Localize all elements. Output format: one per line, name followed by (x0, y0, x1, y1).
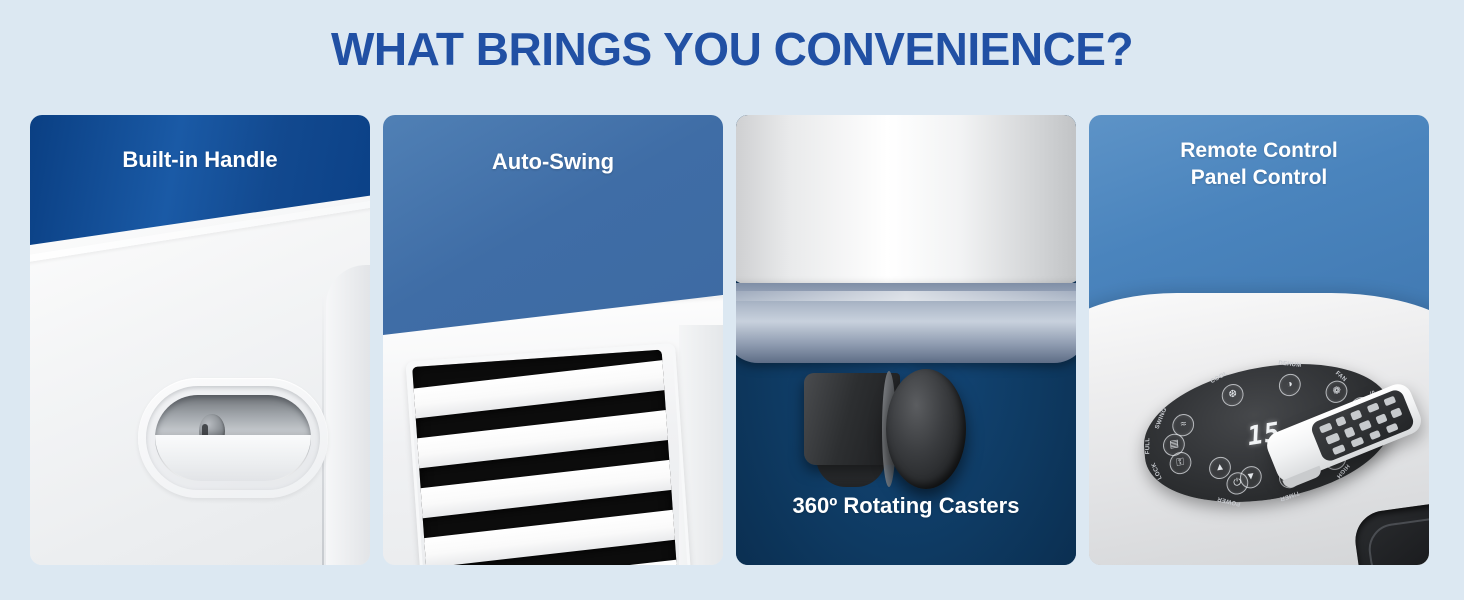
feature-card-remote-panel-control: Remote Control Panel Control 15 ≈SWING❆C… (1089, 115, 1429, 565)
droplet-icon: ◑ (1279, 373, 1301, 396)
panel-button-label: DEHUM (1278, 361, 1302, 370)
handle-grip-bar (155, 435, 311, 481)
remote-key (1319, 422, 1333, 433)
appliance-base-body (736, 115, 1076, 285)
panel-button-dehum[interactable]: ◑ (1278, 372, 1302, 397)
remote-key (1344, 426, 1356, 438)
feature-card-auto-swing: Auto-Swing (383, 115, 723, 565)
remote-key (1383, 396, 1396, 407)
page-title: WHAT BRINGS YOU CONVENIENCE? (0, 20, 1464, 78)
louver-vent-frame (405, 343, 694, 565)
remote-key (1369, 430, 1381, 440)
panel-button-down-arrow[interactable]: ▼ (1239, 465, 1263, 490)
panel-button-cool[interactable]: ❆ (1221, 382, 1245, 407)
card3-caption: 360º Rotating Casters (736, 493, 1076, 519)
remote-key (1367, 402, 1380, 413)
remote-key (1335, 416, 1346, 427)
panel-button-label: FULL (1146, 438, 1152, 455)
full-tank-icon: ▤ (1164, 433, 1186, 456)
promo-banner: WHAT BRINGS YOU CONVENIENCE? Built-in Ha… (0, 0, 1464, 600)
down-arrow-icon: ▼ (1240, 466, 1262, 489)
card4-caption-line1: Remote Control (1089, 137, 1429, 164)
card4-caption: Remote Control Panel Control (1089, 137, 1429, 191)
up-arrow-icon: ▲ (1209, 456, 1231, 479)
remote-key (1332, 444, 1346, 455)
handle-bezel (146, 386, 320, 490)
panel-button-fan[interactable]: ❁ (1325, 379, 1349, 404)
card4-caption-line2: Panel Control (1089, 164, 1429, 191)
feature-card-rotating-casters: 360º Rotating Casters (736, 115, 1076, 565)
remote-key (1386, 423, 1399, 434)
card1-caption: Built-in Handle (30, 147, 370, 173)
remote-key (1375, 413, 1387, 424)
caster-wheel (886, 369, 966, 489)
rim-highlight (736, 291, 1076, 301)
appliance-side-face (326, 265, 370, 565)
remote-key (1390, 407, 1402, 418)
snowflake-icon: ❆ (1222, 383, 1244, 406)
built-in-handle-graphic (138, 378, 328, 498)
handle-cavity (155, 395, 311, 481)
remote-key (1359, 420, 1372, 432)
remote-key (1325, 432, 1340, 444)
fan-icon: ❁ (1326, 380, 1348, 403)
card2-caption: Auto-Swing (383, 149, 723, 175)
remote-key (1350, 410, 1362, 421)
feature-card-built-in-handle: Built-in Handle (30, 115, 370, 565)
remote-key (1351, 437, 1365, 448)
feature-card-grid: Built-in Handle (30, 115, 1436, 565)
